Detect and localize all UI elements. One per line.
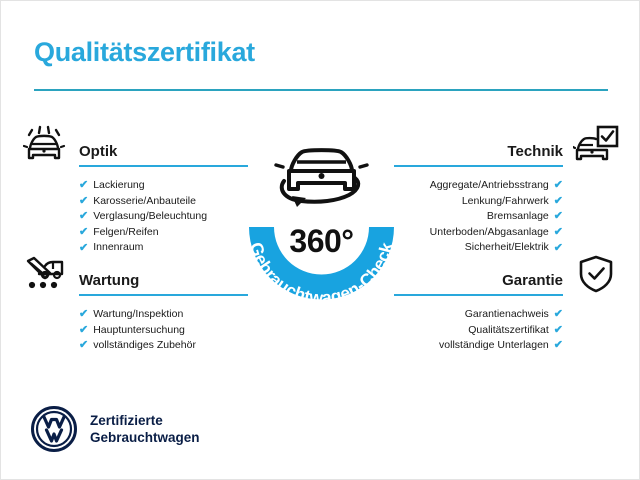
- check-icon: ✔: [79, 180, 88, 191]
- list-item-label: Felgen/Reifen: [93, 225, 158, 241]
- vw-brand-line-1: Zertifizierte: [90, 412, 200, 429]
- list-item-label: Lackierung: [93, 178, 144, 194]
- volkswagen-logo-icon: [31, 406, 77, 452]
- check-icon: ✔: [554, 340, 563, 351]
- shield-check-icon: [573, 254, 619, 294]
- section-technik: Technik Aggregate/Antriebsstrang✔ Lenkun…: [394, 133, 619, 256]
- check-icon: ✔: [554, 180, 563, 191]
- title-divider: [34, 89, 608, 91]
- section-optik-header: Optik: [23, 133, 248, 167]
- check-icon: ✔: [554, 227, 563, 238]
- list-item: Qualitätszertifikat✔: [394, 323, 563, 339]
- car-lift-service-icon: [23, 254, 69, 294]
- section-wartung-title: Wartung: [79, 272, 139, 289]
- check-icon: ✔: [79, 196, 88, 207]
- badge-center-value: 360°: [229, 223, 414, 260]
- section-optik-title: Optik: [79, 143, 117, 160]
- section-wartung-list: ✔Wartung/Inspektion ✔Hauptuntersuchung ✔…: [23, 307, 248, 354]
- section-garantie-title: Garantie: [502, 272, 563, 289]
- list-item-label: Garantienachweis: [465, 307, 549, 323]
- list-item-label: Lenkung/Fahrwerk: [462, 194, 549, 210]
- list-item-label: Innenraum: [93, 240, 143, 256]
- section-garantie-divider: [394, 294, 563, 296]
- check-icon: ✔: [79, 243, 88, 254]
- gebrauchtwagen-check-badge: Gebrauchtwagen-Check 360°: [229, 119, 414, 314]
- list-item-label: Karosserie/Anbauteile: [93, 194, 196, 210]
- list-item-label: Unterboden/Abgasanlage: [430, 225, 549, 241]
- check-icon: ✔: [554, 196, 563, 207]
- check-icon: ✔: [554, 243, 563, 254]
- vw-brand-lockup: Zertifizierte Gebrauchtwagen: [31, 406, 200, 452]
- check-icon: ✔: [79, 211, 88, 222]
- section-optik: Optik ✔Lackierung ✔Karosserie/Anbauteile…: [23, 133, 248, 256]
- check-icon: ✔: [79, 227, 88, 238]
- car-rotate-360-icon: [276, 150, 367, 207]
- list-item: vollständige Unterlagen✔: [394, 338, 563, 354]
- check-icon: ✔: [554, 309, 563, 320]
- page-title: Qualitätszertifikat: [34, 37, 255, 68]
- check-icon: ✔: [79, 309, 88, 320]
- car-checkbox-icon: [573, 125, 619, 165]
- certificate-page: Qualitätszertifikat: [0, 0, 640, 480]
- section-garantie-header: Garantie: [394, 262, 619, 296]
- list-item: Sicherheit/Elektrik✔: [394, 240, 563, 256]
- list-item: ✔Verglasung/Beleuchtung: [79, 209, 248, 225]
- list-item: Garantienachweis✔: [394, 307, 563, 323]
- list-item-label: Verglasung/Beleuchtung: [93, 209, 207, 225]
- list-item-label: Wartung/Inspektion: [93, 307, 183, 323]
- list-item: ✔Innenraum: [79, 240, 248, 256]
- list-item: Aggregate/Antriebsstrang✔: [394, 178, 563, 194]
- check-icon: ✔: [554, 325, 563, 336]
- car-shine-icon: [23, 125, 69, 165]
- section-technik-title: Technik: [507, 143, 563, 160]
- vw-brand-text: Zertifizierte Gebrauchtwagen: [90, 412, 200, 446]
- list-item: ✔Lackierung: [79, 178, 248, 194]
- list-item-label: Sicherheit/Elektrik: [465, 240, 549, 256]
- check-icon: ✔: [79, 340, 88, 351]
- list-item: ✔Hauptuntersuchung: [79, 323, 248, 339]
- list-item-label: Bremsanlage: [487, 209, 549, 225]
- section-optik-list: ✔Lackierung ✔Karosserie/Anbauteile ✔Verg…: [23, 178, 248, 256]
- vw-brand-line-2: Gebrauchtwagen: [90, 429, 200, 446]
- section-optik-divider: [79, 165, 248, 167]
- section-technik-header: Technik: [394, 133, 619, 167]
- list-item: Lenkung/Fahrwerk✔: [394, 194, 563, 210]
- list-item: Bremsanlage✔: [394, 209, 563, 225]
- section-technik-list: Aggregate/Antriebsstrang✔ Lenkung/Fahrwe…: [394, 178, 619, 256]
- list-item-label: vollständige Unterlagen: [439, 338, 549, 354]
- list-item-label: Qualitätszertifikat: [468, 323, 549, 339]
- section-technik-divider: [394, 165, 563, 167]
- section-garantie: Garantie Garantienachweis✔ Qualitätszert…: [394, 262, 619, 354]
- check-icon: ✔: [554, 211, 563, 222]
- list-item-label: Hauptuntersuchung: [93, 323, 185, 339]
- list-item-label: Aggregate/Antriebsstrang: [430, 178, 549, 194]
- list-item-label: vollständiges Zubehör: [93, 338, 196, 354]
- section-wartung-divider: [79, 294, 248, 296]
- list-item: ✔Wartung/Inspektion: [79, 307, 248, 323]
- section-wartung-header: Wartung: [23, 262, 248, 296]
- list-item: ✔Karosserie/Anbauteile: [79, 194, 248, 210]
- section-garantie-list: Garantienachweis✔ Qualitätszertifikat✔ v…: [394, 307, 619, 354]
- list-item: ✔Felgen/Reifen: [79, 225, 248, 241]
- list-item: Unterboden/Abgasanlage✔: [394, 225, 563, 241]
- check-icon: ✔: [79, 325, 88, 336]
- list-item: ✔vollständiges Zubehör: [79, 338, 248, 354]
- section-wartung: Wartung ✔Wartung/Inspektion ✔Hauptunters…: [23, 262, 248, 354]
